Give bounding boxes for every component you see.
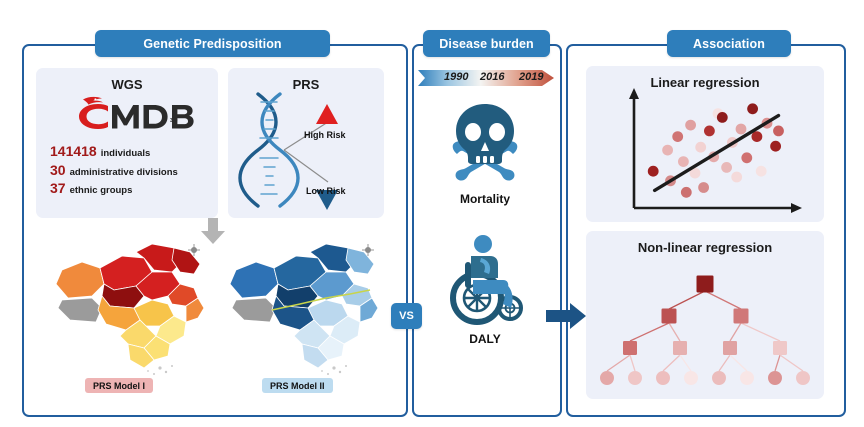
versus-badge: VS xyxy=(391,303,422,329)
timeline-bar: 1990 2016 2019 xyxy=(418,68,554,88)
scatter-point xyxy=(731,172,742,183)
scatter-plot xyxy=(598,84,816,219)
scatter-point xyxy=(756,166,767,177)
stat-number: 37 xyxy=(50,180,66,197)
stat-label: administrative divisions xyxy=(70,167,178,178)
tree-edge xyxy=(607,355,630,371)
tree-edge xyxy=(669,291,705,309)
tree-node xyxy=(600,371,614,385)
low-risk-label: Low Risk xyxy=(306,186,346,196)
skull-crossbones-icon xyxy=(447,100,523,188)
tree-edge xyxy=(730,355,747,371)
tree-node xyxy=(662,309,677,324)
stat-row: 141418 individuals xyxy=(50,143,225,160)
tree-node xyxy=(773,341,787,355)
trend-line xyxy=(655,116,779,191)
tree-node xyxy=(684,371,698,385)
scatter-point xyxy=(685,120,696,131)
high-risk-triangle-icon xyxy=(316,104,338,124)
tab-genetic-predisposition[interactable]: Genetic Predisposition xyxy=(95,30,330,57)
wgs-statistics: 141418 individuals 30 administrative div… xyxy=(50,143,225,199)
scatter-point xyxy=(698,182,709,193)
map-prs-model-2 xyxy=(222,238,387,378)
tree-node xyxy=(734,309,749,324)
tree-edge xyxy=(669,323,680,341)
tree-edge xyxy=(630,355,635,371)
figure-canvas: Genetic Predisposition WGS 3.0 141418 in… xyxy=(0,0,864,427)
scatter-point xyxy=(717,112,728,123)
tree-edge xyxy=(741,323,780,341)
tree-node xyxy=(712,371,726,385)
scatter-point xyxy=(672,131,683,142)
stat-row: 30 administrative divisions xyxy=(50,162,225,179)
tab-association[interactable]: Association xyxy=(667,30,791,57)
prs-risk-graphic: High Risk Low Risk xyxy=(228,86,384,218)
scatter-point xyxy=(741,152,752,163)
map-prs-model-1 xyxy=(48,238,213,378)
wgs-title: WGS xyxy=(36,77,218,92)
scatter-point xyxy=(681,187,692,198)
timeline-year: 2019 xyxy=(519,71,543,83)
cmdb-logo-icon: 3.0 xyxy=(36,93,218,137)
dna-helix-icon xyxy=(240,94,298,206)
stat-label: ethnic groups xyxy=(70,185,133,196)
scatter-point xyxy=(770,141,781,152)
timeline-year: 2016 xyxy=(480,71,504,83)
scatter-point xyxy=(695,142,706,153)
scatter-point xyxy=(662,145,673,156)
tree-node xyxy=(623,341,637,355)
badge-prs-model-1: PRS Model I xyxy=(85,378,153,393)
high-risk-label: High Risk xyxy=(304,130,346,140)
scatter-point xyxy=(721,162,732,173)
tree-edge xyxy=(730,323,741,341)
tree-node xyxy=(796,371,810,385)
stat-label: individuals xyxy=(101,148,151,159)
scatter-point xyxy=(704,126,715,137)
tree-nodes xyxy=(600,276,810,386)
badge-prs-model-2: PRS Model II xyxy=(262,378,333,393)
tree-node xyxy=(673,341,687,355)
decision-tree-diagram xyxy=(592,252,818,394)
tree-node xyxy=(768,371,782,385)
scatter-point xyxy=(678,156,689,167)
right-arrow-icon xyxy=(546,303,586,329)
tree-edge xyxy=(680,355,691,371)
tree-node xyxy=(628,371,642,385)
tree-edge xyxy=(780,355,803,371)
tree-edge xyxy=(663,355,680,371)
scatter-point xyxy=(747,103,758,114)
low-risk-connector xyxy=(284,150,328,182)
tree-node xyxy=(697,276,714,293)
stat-number: 141418 xyxy=(50,143,97,160)
tree-edge xyxy=(719,355,730,371)
tree-node xyxy=(723,341,737,355)
tree-edges xyxy=(607,291,803,371)
timeline-year: 1990 xyxy=(444,71,468,83)
stat-row: 37 ethnic groups xyxy=(50,180,225,197)
tree-edge xyxy=(775,355,780,371)
tree-edge xyxy=(705,291,741,309)
scatter-point xyxy=(773,126,784,137)
stat-number: 30 xyxy=(50,162,66,179)
tree-node xyxy=(656,371,670,385)
tree-node xyxy=(740,371,754,385)
label-mortality: Mortality xyxy=(412,192,558,206)
svg-text:3.0: 3.0 xyxy=(170,118,178,124)
tab-disease-burden[interactable]: Disease burden xyxy=(423,30,550,57)
wheelchair-icon xyxy=(443,234,527,326)
tree-edge xyxy=(630,323,669,341)
label-daly: DALY xyxy=(412,332,558,346)
scatter-point xyxy=(736,124,747,135)
scatter-point xyxy=(648,166,659,177)
